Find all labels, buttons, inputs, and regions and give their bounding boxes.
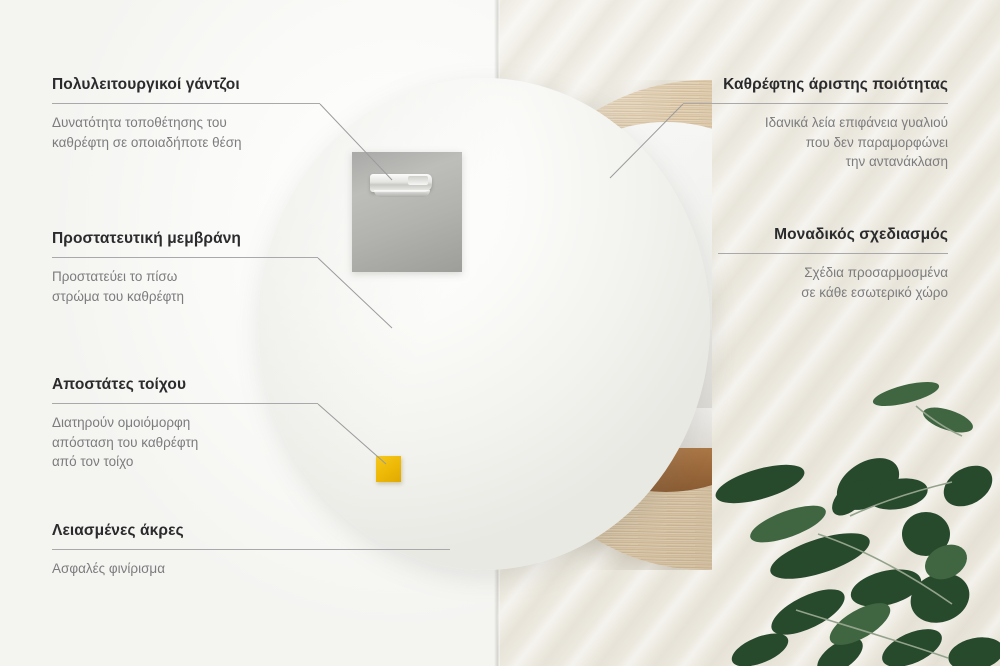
callout-premium-mirror: Καθρέφτης άριστης ποιότητας Ιδανικά λεία…: [683, 76, 948, 172]
plant-leaves-decoration: [700, 366, 1000, 666]
callout-rule: [718, 253, 948, 254]
product-infographic: Πολυλειτουργικοί γάντζοι Δυνατότητα τοπο…: [0, 0, 1000, 666]
callout-rule: [52, 549, 450, 550]
callout-title: Αποστάτες τοίχου: [52, 376, 318, 394]
callout-unique-design: Μοναδικός σχεδιασμός Σχέδια προσαρμοσμέν…: [718, 226, 948, 302]
callout-title: Προστατευτική μεμβράνη: [52, 230, 318, 248]
callout-rule: [52, 103, 320, 104]
callout-title: Πολυλειτουργικοί γάντζοι: [52, 76, 320, 94]
callout-title: Λειασμένες άκρες: [52, 522, 450, 540]
callout-wall-spacers: Αποστάτες τοίχου Διατηρούν ομοιόμορφη απ…: [52, 376, 318, 472]
callout-body: Ιδανικά λεία επιφάνεια γυαλιού που δεν π…: [683, 113, 948, 172]
callout-protective-membrane: Προστατευτική μεμβράνη Προστατεύει το πί…: [52, 230, 318, 306]
callout-smoothed-edges: Λειασμένες άκρες Ασφαλές φινίρισμα: [52, 522, 450, 579]
callout-body: Δυνατότητα τοποθέτησης του καθρέφτη σε ο…: [52, 113, 320, 152]
mirror-back-shading: [258, 78, 710, 570]
multifunction-hook-detail: [352, 152, 462, 272]
callout-body: Σχέδια προσαρμοσμένα σε κάθε εσωτερικό χ…: [718, 263, 948, 302]
callout-body: Προστατεύει το πίσω στρώμα του καθρέφτη: [52, 267, 318, 306]
hook-bracket-shadow: [374, 190, 430, 197]
callout-rule: [52, 257, 318, 258]
callout-rule: [52, 403, 318, 404]
callout-multifunction-hooks: Πολυλειτουργικοί γάντζοι Δυνατότητα τοπο…: [52, 76, 320, 152]
callout-body: Διατηρούν ομοιόμορφη απόσταση του καθρέφ…: [52, 413, 318, 472]
leaf-cluster-icon: [700, 366, 1000, 666]
callout-title: Μοναδικός σχεδιασμός: [718, 226, 948, 244]
wall-spacer-detail: [376, 456, 401, 482]
callout-rule: [683, 103, 948, 104]
callout-title: Καθρέφτης άριστης ποιότητας: [683, 76, 948, 94]
callout-body: Ασφαλές φινίρισμα: [52, 559, 450, 579]
